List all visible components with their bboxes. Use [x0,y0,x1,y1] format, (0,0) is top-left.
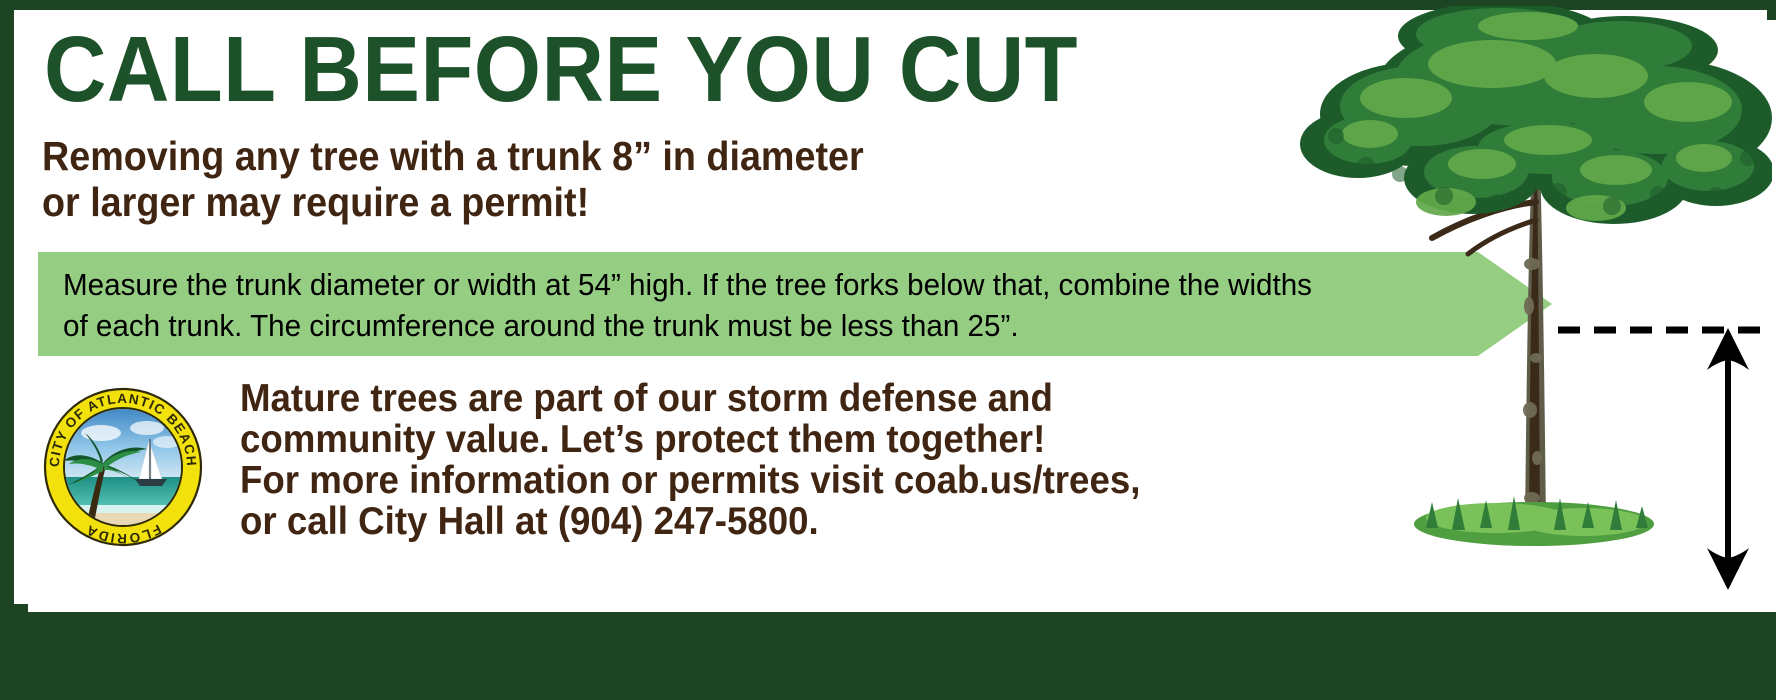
subheading: Removing any tree with a trunk 8” in dia… [42,133,1072,225]
callout-line-2: of each trunk. The circumference around … [63,305,1400,346]
subheading-line-1: Removing any tree with a trunk 8” in dia… [42,133,864,179]
city-seal: CITY OF ATLANTIC BEACH FLORIDA [43,387,203,547]
measure-height-arrow [1696,326,1760,592]
callout-text: Measure the trunk diameter or width at 5… [63,264,1400,346]
subheading-line-2: or larger may require a permit! [42,179,1072,225]
page-title: CALL BEFORE YOU CUT [44,22,1078,116]
message-line-1: Mature trees are part of our storm defen… [240,378,1236,419]
message-line-3: For more information or permits visit co… [240,460,1236,501]
message-line-4: or call City Hall at (904) 247-5800. [240,501,1236,542]
callout-line-1: Measure the trunk diameter or width at 5… [63,264,1400,305]
double-headed-vertical-arrow-icon [1696,326,1760,592]
city-seal-beach-scene-icon: CITY OF ATLANTIC BEACH FLORIDA [43,387,203,547]
bottom-color-strip [0,612,1776,700]
information-message: Mature trees are part of our storm defen… [240,378,1236,542]
tree-permit-poster: CALL BEFORE YOU CUT Removing any tree wi… [0,0,1776,700]
message-line-2: community value. Let’s protect them toge… [240,419,1236,460]
